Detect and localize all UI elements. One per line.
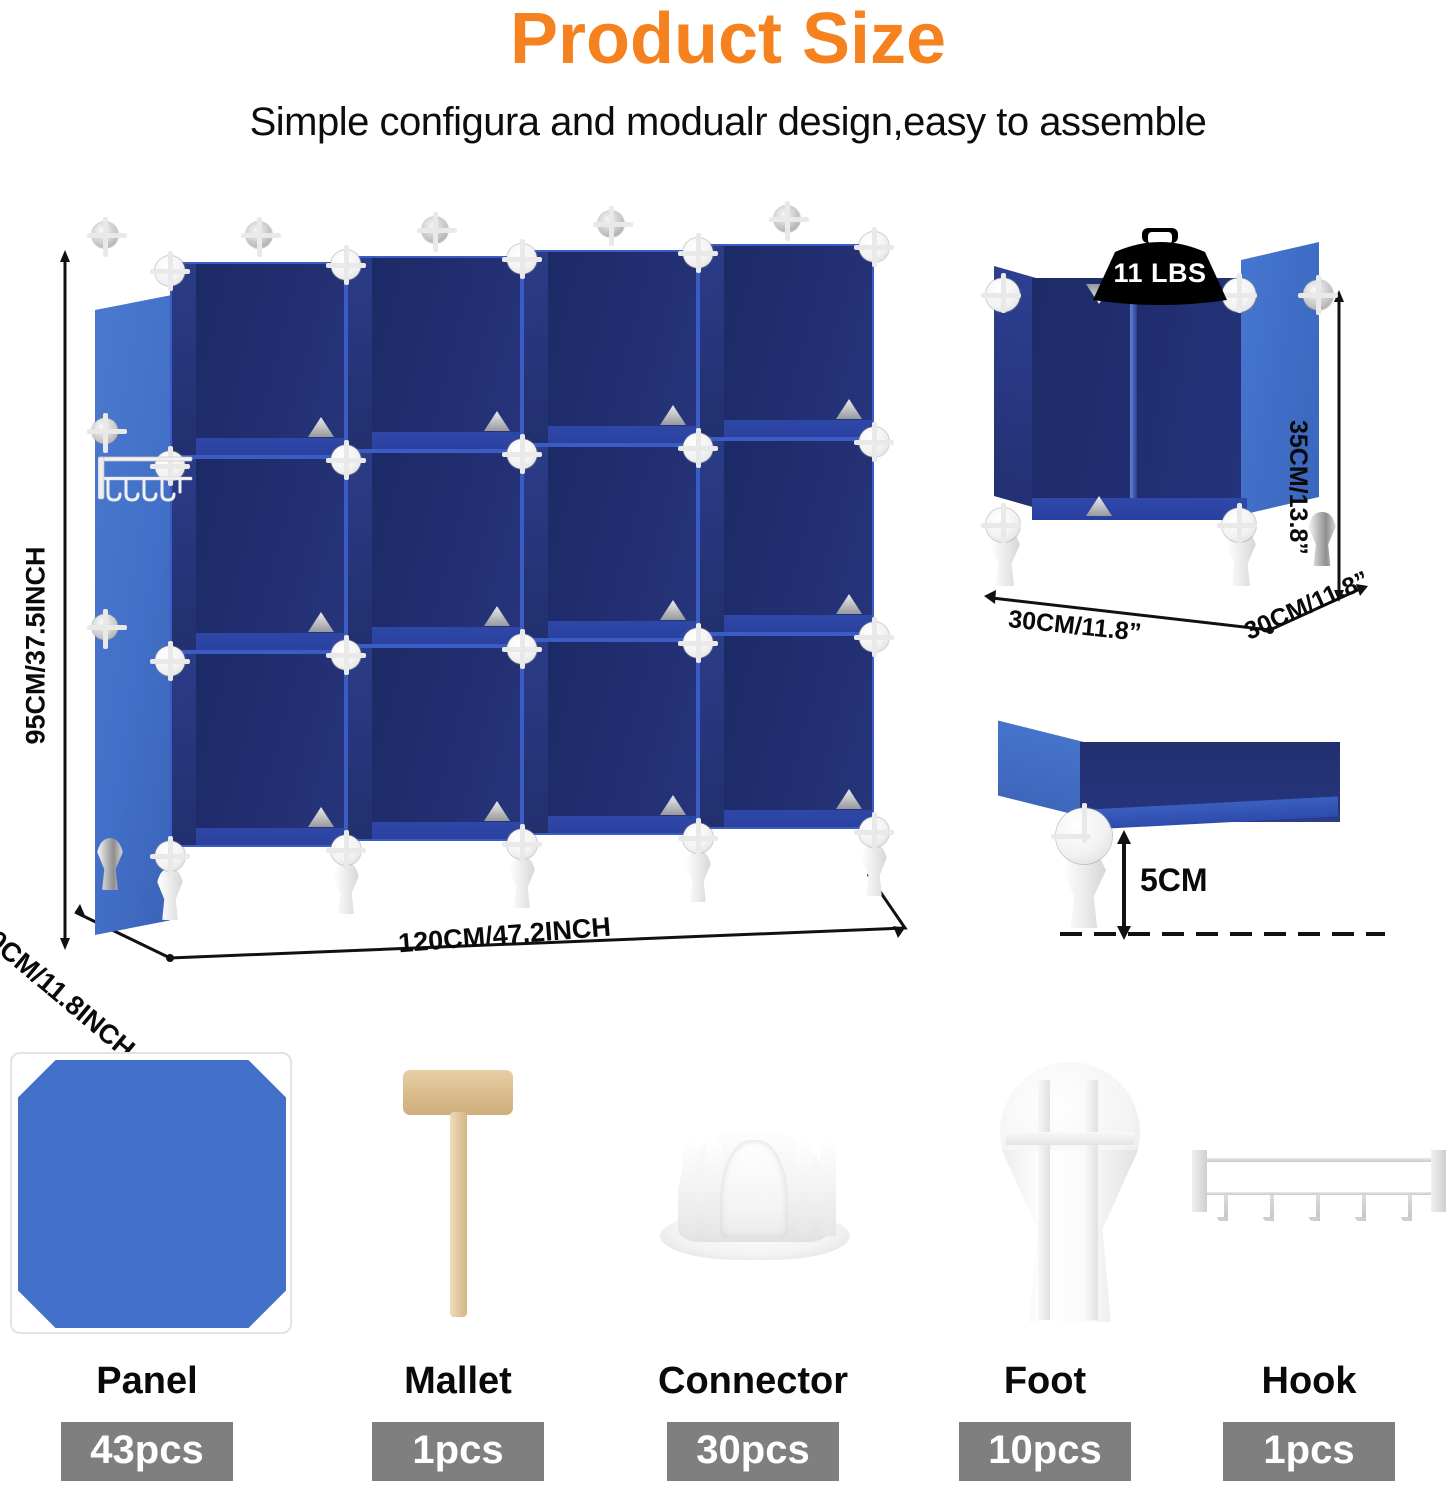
detail-side-panel <box>998 721 1084 817</box>
part-label: Connector <box>608 1360 898 1403</box>
connector-icon <box>331 835 361 865</box>
cube-r3c4 <box>698 634 874 829</box>
connector-icon <box>774 206 800 232</box>
part-item-mallet: Mallet 1pcs <box>313 1040 603 1500</box>
connector-icon <box>1303 280 1333 310</box>
connector-icon <box>608 1040 898 1340</box>
connector-icon <box>683 433 713 463</box>
cube-r2c3 <box>522 445 698 640</box>
part-count-badge: 1pcs <box>1223 1422 1395 1481</box>
connector-icon <box>859 817 889 847</box>
cube-back-panel <box>1032 278 1247 508</box>
foot-clearance-diagram: 5CM <box>980 730 1410 960</box>
hook-icon <box>1164 1040 1454 1340</box>
cube-r2c1 <box>170 457 346 652</box>
part-item-panel: Panel 43pcs <box>2 1040 292 1500</box>
connector-icon <box>507 439 537 469</box>
page-title: Product Size <box>0 2 1456 78</box>
weight-capacity-label: 11 LBS <box>1085 258 1235 289</box>
cube-r1c2 <box>346 256 522 451</box>
cube-r2c2 <box>346 451 522 646</box>
part-count-badge: 10pcs <box>959 1422 1131 1481</box>
connector-icon <box>683 238 713 268</box>
parts-list: Panel 43pcs Mallet 1pcs <box>0 1040 1456 1500</box>
cube-height-label: 35CM/13.8” <box>1283 420 1312 555</box>
mallet-icon <box>313 1040 603 1340</box>
cube-r3c1 <box>170 652 346 847</box>
connector-icon <box>92 614 118 640</box>
shelf-diagram: 95CM/37.5INCH 120CM/47.2INCH 30CM/11.8IN… <box>0 200 940 1030</box>
cube-divider-panel <box>1130 278 1137 516</box>
connector-icon <box>155 841 185 871</box>
cube-r2c4 <box>698 439 874 634</box>
connector-icon <box>331 250 361 280</box>
part-count-badge: 43pcs <box>61 1422 233 1481</box>
connector-icon <box>331 445 361 475</box>
cube-r1c1 <box>170 262 346 457</box>
cube-r3c3 <box>522 640 698 835</box>
connector-icon <box>986 278 1020 312</box>
connector-icon <box>155 256 185 286</box>
part-label: Panel <box>2 1360 292 1403</box>
shelf-height-label: 95CM/37.5INCH <box>21 546 52 744</box>
hook-rack-icon <box>98 455 194 511</box>
connector-icon <box>986 508 1020 542</box>
connector-icon <box>1056 808 1112 864</box>
weight-capacity-badge: 11 LBS <box>1085 228 1235 306</box>
connector-icon <box>246 222 272 248</box>
cube-r1c3 <box>522 250 698 445</box>
connector-icon <box>92 418 118 444</box>
connector-icon <box>507 634 537 664</box>
connector-icon <box>422 217 448 243</box>
part-label: Hook <box>1164 1360 1454 1403</box>
part-count-badge: 1pcs <box>372 1422 544 1481</box>
part-label: Foot <box>900 1360 1190 1403</box>
ground-dashed-line <box>1060 928 1390 940</box>
connector-icon <box>507 244 537 274</box>
connector-icon <box>92 222 118 248</box>
connector-icon <box>683 823 713 853</box>
clearance-label: 5CM <box>1140 862 1208 899</box>
page-subtitle: Simple configura and modualr design,easy… <box>0 100 1456 145</box>
connector-icon <box>331 640 361 670</box>
connector-icon <box>683 628 713 658</box>
connector-icon <box>859 622 889 652</box>
connector-icon <box>507 829 537 859</box>
part-count-badge: 30pcs <box>667 1422 839 1481</box>
part-item-hook: Hook 1pcs <box>1164 1040 1454 1500</box>
connector-icon <box>598 211 624 237</box>
cube-r3c2 <box>346 646 522 841</box>
foot-icon <box>900 1040 1190 1340</box>
panel-icon <box>2 1040 292 1340</box>
product-size-infographic: Product Size Simple configura and modual… <box>0 0 1456 1500</box>
part-label: Mallet <box>313 1360 603 1403</box>
cube-r1c4 <box>698 244 874 439</box>
part-item-connector: Connector 30pcs <box>608 1040 898 1500</box>
connector-icon <box>1222 508 1256 542</box>
connector-icon <box>155 646 185 676</box>
cube-floor-panel <box>1032 498 1247 520</box>
connector-icon <box>859 232 889 262</box>
part-item-foot: Foot 10pcs <box>900 1040 1190 1500</box>
connector-icon <box>859 427 889 457</box>
